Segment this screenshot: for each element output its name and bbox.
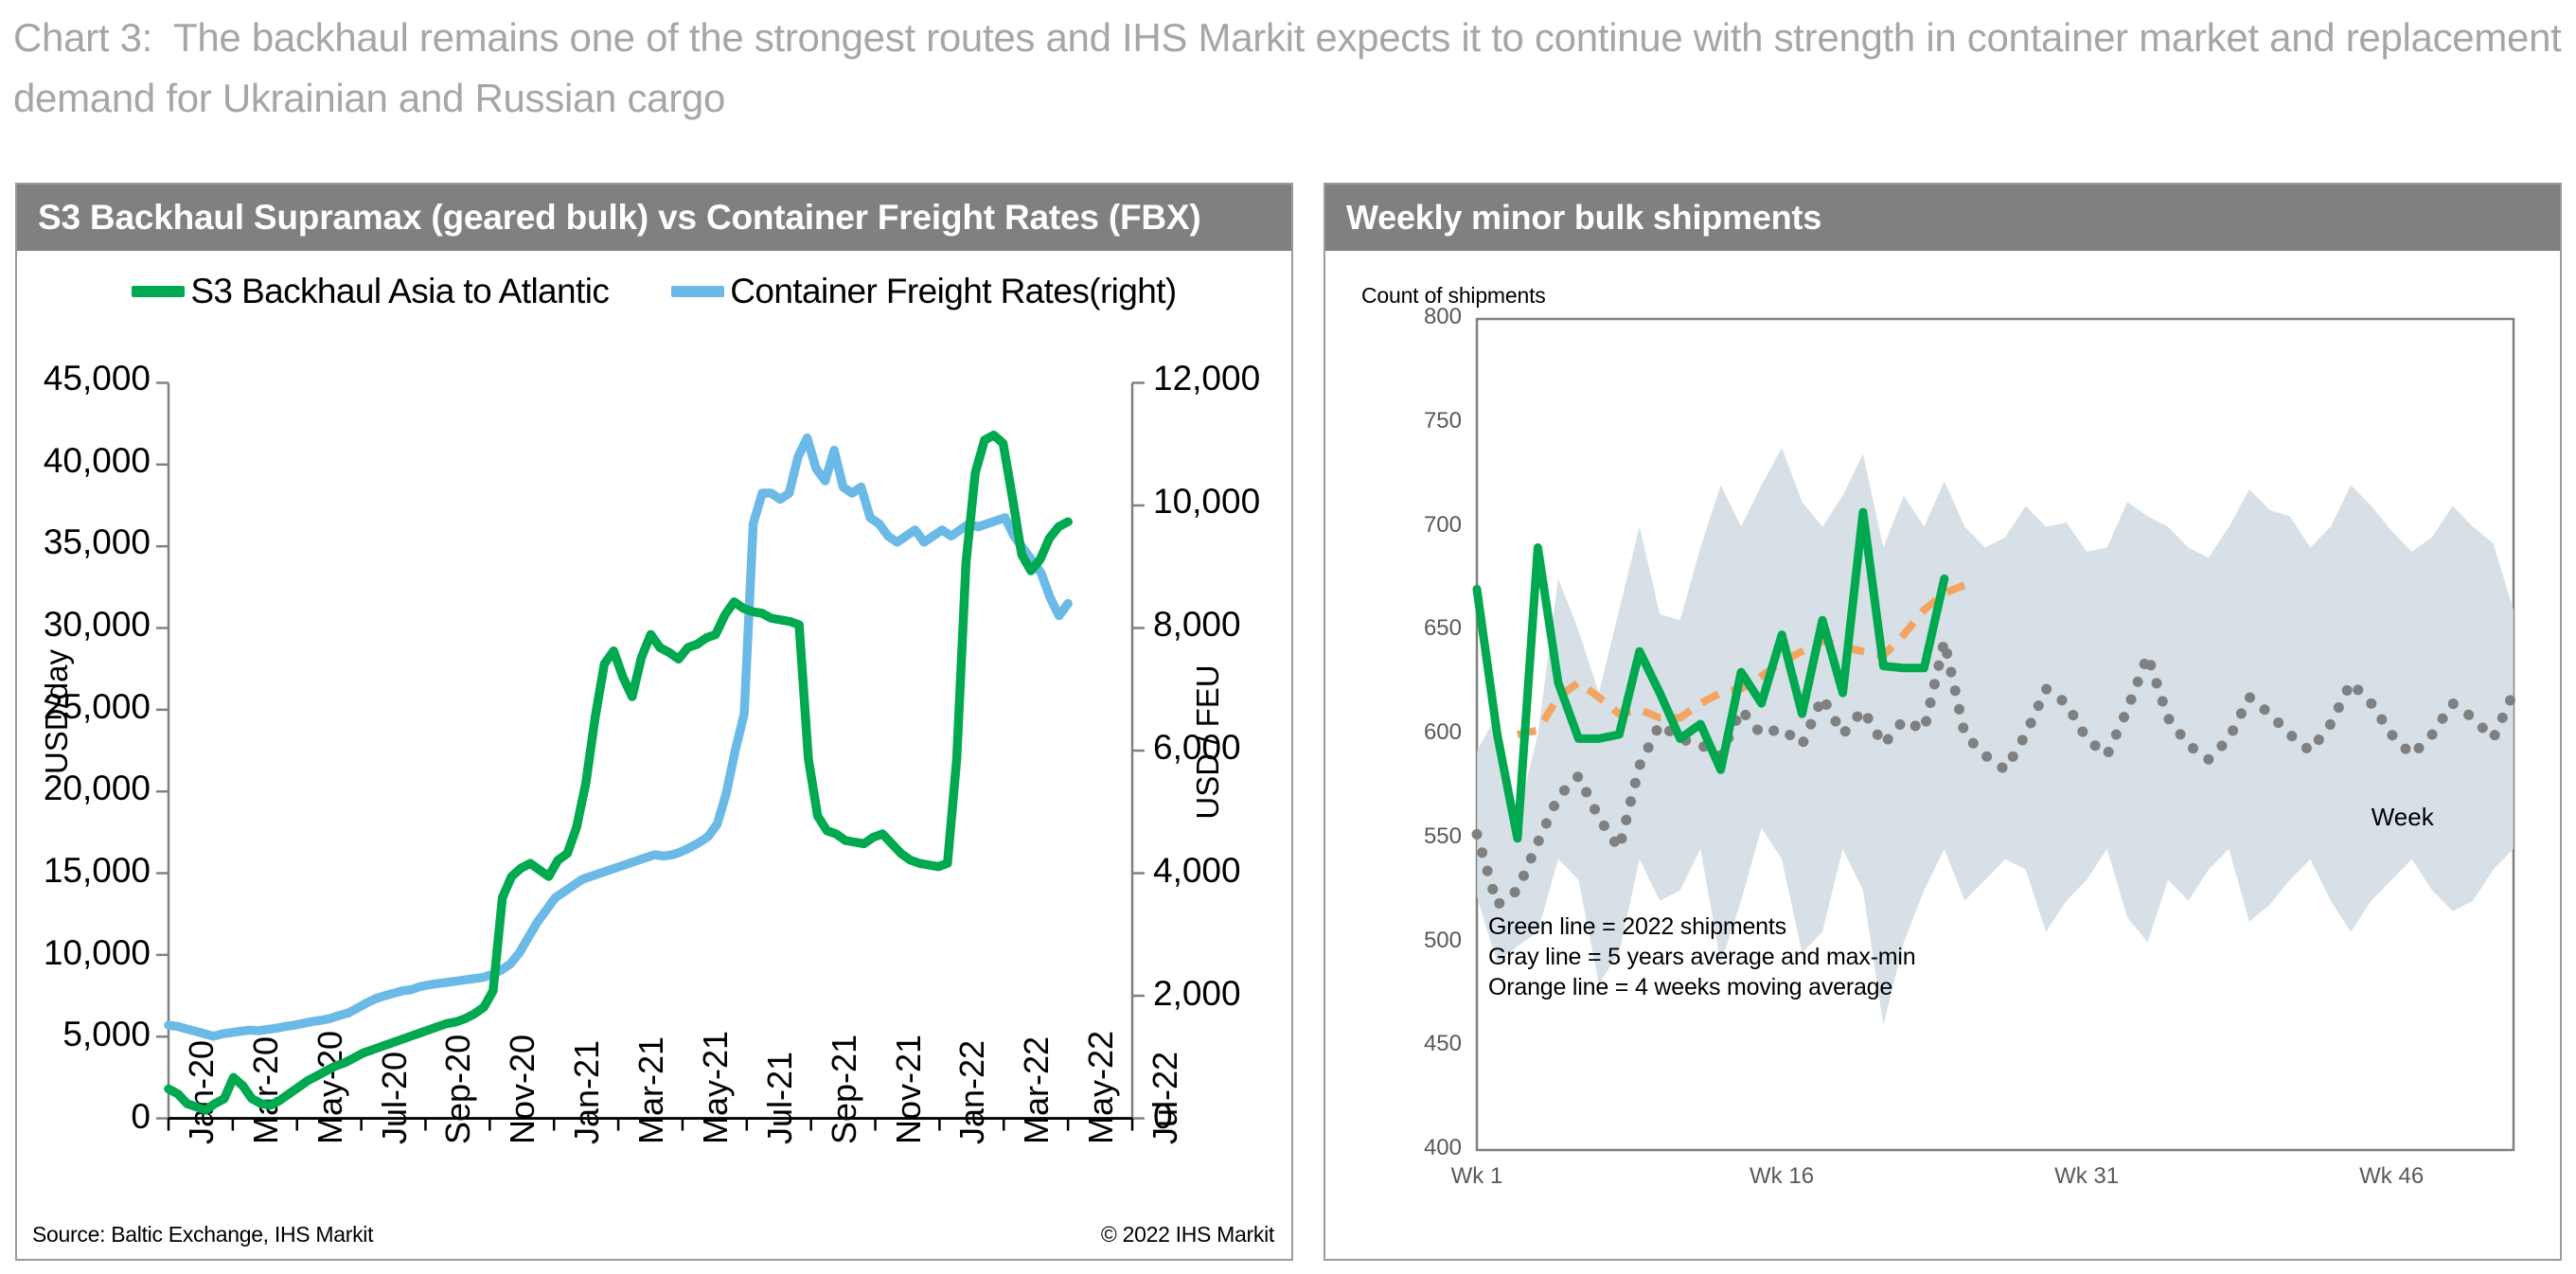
right-y-tick: 500 <box>1386 928 1462 954</box>
slide-root: Chart 3: The backhaul remains one of the… <box>0 0 2576 1274</box>
right-chart-panel: Weekly minor bulk shipments Count of shi… <box>1324 183 2562 1261</box>
right-x-tick: Wk 31 <box>2020 1163 2153 1190</box>
right-x-axis-title: Week <box>2372 803 2434 832</box>
right-y-tick: 400 <box>1386 1135 1462 1161</box>
right-panel-body: Count of shipments 400450500550600650700… <box>1325 251 2560 1259</box>
right-x-tick: Wk 1 <box>1411 1163 1543 1190</box>
right-chart-plot <box>1325 251 2560 1263</box>
right-y-tick: 450 <box>1386 1031 1462 1057</box>
right-y-tick: 800 <box>1386 304 1462 330</box>
right-chart-note: Green line = 2022 shipments Gray line = … <box>1488 911 1915 1002</box>
right-y-tick: 600 <box>1386 719 1462 746</box>
right-y-tick: 750 <box>1386 408 1462 434</box>
right-y-tick: 650 <box>1386 615 1462 642</box>
right-x-tick: Wk 46 <box>2325 1163 2458 1190</box>
right-panel-header: Weekly minor bulk shipments <box>1325 185 2560 251</box>
right-y-tick: 700 <box>1386 512 1462 539</box>
left-chart-source: Source: Baltic Exchange, IHS Markit <box>32 1222 373 1247</box>
left-chart-copyright: © 2022 IHS Markit <box>1101 1222 1274 1247</box>
left-panel-body: S3 Backhaul Asia to Atlantic Container F… <box>17 251 1291 1259</box>
right-y-tick: 550 <box>1386 823 1462 850</box>
right-panel-title: Weekly minor bulk shipments <box>1346 198 1821 238</box>
page-title: Chart 3: The backhaul remains one of the… <box>13 8 2569 129</box>
right-x-tick: Wk 16 <box>1715 1163 1848 1190</box>
left-panel-header: S3 Backhaul Supramax (geared bulk) vs Co… <box>17 185 1291 251</box>
left-chart-plot <box>17 251 1291 1259</box>
left-panel-title: S3 Backhaul Supramax (geared bulk) vs Co… <box>38 198 1200 238</box>
left-chart-panel: S3 Backhaul Supramax (geared bulk) vs Co… <box>15 183 1293 1261</box>
